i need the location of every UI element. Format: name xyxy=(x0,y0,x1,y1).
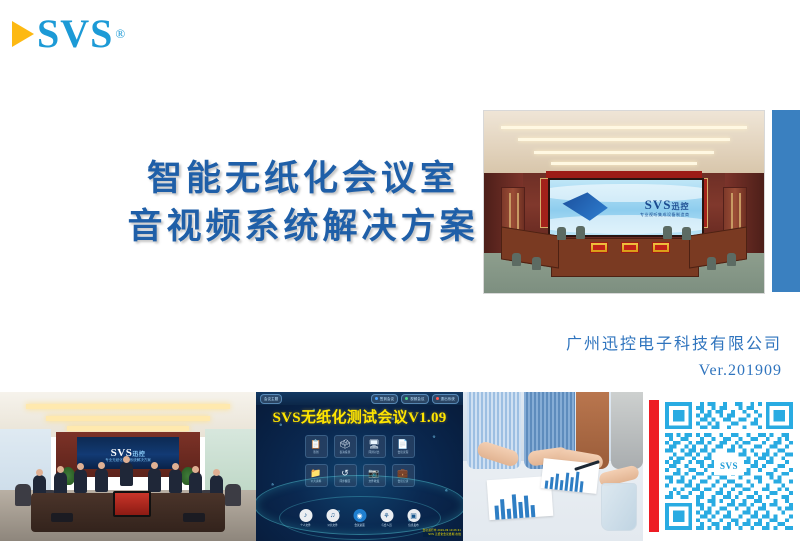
screen-brand: SVS迅控 xyxy=(645,197,690,213)
strip-panel-tablet-ui: 会议主题 签到会议 视频会议 退出系统 SVS无纸化测试会议V1.09 📋签到 … xyxy=(256,392,463,541)
svs-logo: SVS ® xyxy=(12,12,125,56)
monitor-icon: ▣ xyxy=(407,509,420,522)
triangle-play-icon xyxy=(12,21,34,47)
topbar-button-checkin[interactable]: 签到会议 xyxy=(371,394,398,404)
red-banner xyxy=(546,171,703,178)
slide-canvas: SVS ® 智能无纸化会议室 音视频系统解决方案 SVS迅控 专业视听集成设备制… xyxy=(0,0,800,541)
tile-agenda[interactable]: 📄会议议程 xyxy=(392,435,415,458)
topbar-button-exit[interactable]: 退出系统 xyxy=(432,394,459,404)
dock-item-public-files[interactable]: ♫公共文件 xyxy=(326,509,339,527)
bottom-image-strip: SVS迅控 专业无纸化会议系统解决方案 xyxy=(0,392,800,541)
page-title: 智能无纸化会议室 音视频系统解决方案 xyxy=(118,155,488,251)
dock-item-desktop[interactable]: ◉会议桌面 xyxy=(353,509,366,527)
tablet-status-ticker: 会议进行中 2019-09 10:26:31 SVS 无纸化会议终端 在线 xyxy=(423,529,461,537)
dock-item-attendees[interactable]: ⚘与会人员 xyxy=(380,509,393,527)
title-line-1: 智能无纸化会议室 xyxy=(118,155,488,203)
dock-item-personal-files[interactable]: ♪个人文件 xyxy=(299,509,312,527)
tile-vote[interactable]: 🗳表决投票 xyxy=(334,435,357,458)
company-name: 广州迅控电子科技有限公司 xyxy=(566,330,782,354)
strip-panel-meeting-room: SVS迅控 专业无纸化会议系统解决方案 xyxy=(0,392,256,541)
topbar-meeting-title[interactable]: 会议主题 xyxy=(260,394,282,404)
tablet-topbar: 会议主题 签到会议 视频会议 退出系统 xyxy=(256,392,463,405)
document-icon: 📄 xyxy=(397,439,408,449)
qr-center-logo: SVS xyxy=(714,457,744,475)
ticker-line-2: SVS 无纸化会议终端 在线 xyxy=(423,533,461,537)
hero-conference-room-image: SVS迅控 专业视听集成设备制造商 xyxy=(483,110,765,294)
topbar-button-video[interactable]: 视频会议 xyxy=(401,394,428,404)
tile-checkin[interactable]: 📋签到 xyxy=(305,435,328,458)
tile-screen-share[interactable]: 🖥同屏对比 xyxy=(363,435,386,458)
people-icon: ⚘ xyxy=(380,509,393,522)
title-line-2: 音视频系统解决方案 xyxy=(118,203,488,251)
clipboard-icon: 📋 xyxy=(310,439,321,449)
water-glass xyxy=(601,483,637,531)
registered-trademark-icon: ® xyxy=(115,29,125,39)
screen-share-icon: 🖥 xyxy=(368,439,379,449)
screen-subtitle: 专业视听集成设备制造商 xyxy=(640,212,690,218)
media-icon: ♫ xyxy=(326,509,339,522)
strip-panel-qr: SVS xyxy=(643,392,800,541)
dock-item-publish[interactable]: ▣信息发布 xyxy=(407,509,420,527)
logo-wordmark: SVS xyxy=(37,14,113,54)
blue-accent-bar xyxy=(772,110,800,292)
version-label: Ver.201909 xyxy=(699,362,782,380)
tablet-app-title: SVS无纸化测试会议V1.09 xyxy=(256,406,463,427)
led-screen: SVS迅控 专业视听集成设备制造商 xyxy=(548,178,703,237)
home-icon: ◉ xyxy=(353,509,366,522)
tablet-dock: ♪个人文件 ♫公共文件 ◉会议桌面 ⚘与会人员 ▣信息发布 xyxy=(299,509,420,527)
vote-icon: 🗳 xyxy=(339,439,350,449)
audio-icon: ♪ xyxy=(299,509,312,522)
strip-panel-hands-charts xyxy=(463,392,643,541)
qr-code[interactable]: SVS xyxy=(665,398,793,534)
red-accent-bar xyxy=(649,400,659,532)
